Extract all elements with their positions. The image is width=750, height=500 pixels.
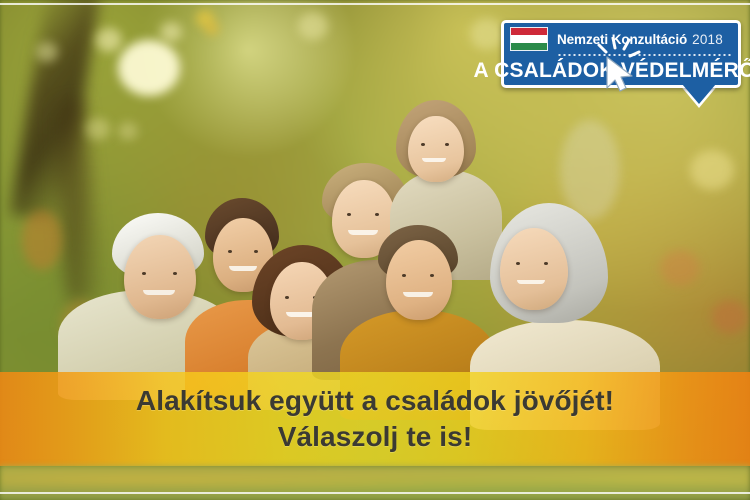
teen-boy-eye: [347, 213, 351, 216]
top-frame-line: [0, 3, 750, 5]
call-to-action-banner: Alakítsuk együtt a családok jövőjét! Vál…: [0, 372, 750, 466]
grandmother-smile: [517, 280, 545, 284]
father-smile: [403, 292, 433, 297]
banner-headline-secondary: Válaszolj te is!: [0, 416, 750, 452]
girl-eye: [421, 143, 425, 146]
father-eye: [402, 274, 406, 277]
flag-stripe-white: [511, 35, 547, 42]
banner-headline-primary: Alakítsuk együtt a családok jövőjét!: [0, 372, 750, 416]
grandmother-eye: [516, 262, 520, 265]
grandmother-eye: [544, 262, 548, 265]
girl-head: [408, 116, 464, 182]
mouse-cursor-click-icon: [594, 37, 644, 95]
grandfather-head: [124, 235, 196, 319]
grandfather-smile: [143, 290, 175, 295]
grandfather-eye: [142, 272, 146, 275]
flag-stripe-red: [511, 28, 547, 35]
logo-year: 2018: [692, 32, 723, 47]
father-eye: [430, 274, 434, 277]
campaign-logo-badge[interactable]: Nemzeti Konzultáció 2018 A CSALÁDOK VÉDE…: [501, 20, 741, 88]
boy-smile: [229, 266, 257, 271]
grandmother-head: [500, 228, 568, 310]
logo-tail: [682, 84, 716, 104]
boy-eye: [228, 250, 232, 253]
poster-canvas: Alakítsuk együtt a családok jövőjét! Vál…: [0, 0, 750, 500]
grandfather-eye: [173, 272, 177, 275]
hungarian-flag-icon: [510, 27, 548, 51]
mother-eye: [285, 296, 289, 299]
foreground-grass: [0, 466, 750, 500]
teen-boy-eye: [375, 213, 379, 216]
father-head: [386, 240, 452, 320]
girl-eye: [445, 143, 449, 146]
bottom-frame-line: [0, 492, 750, 494]
girl-smile: [422, 158, 446, 162]
flag-stripe-green: [511, 43, 547, 50]
teen-boy-smile: [348, 230, 378, 235]
boy-eye: [254, 250, 258, 253]
cursor-svg: [594, 37, 644, 95]
